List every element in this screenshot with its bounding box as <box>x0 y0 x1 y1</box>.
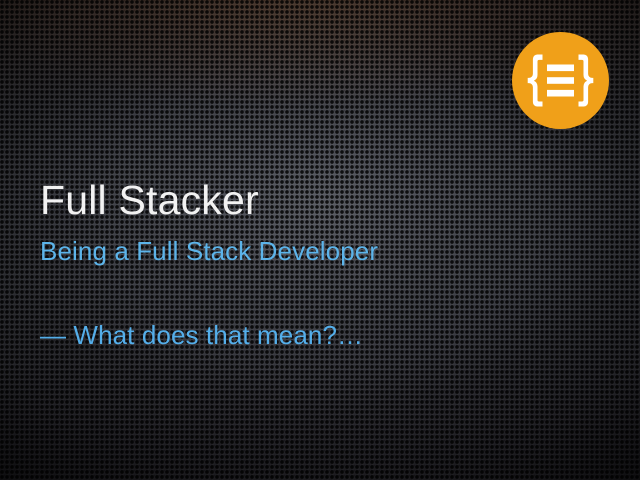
slide-text-block: Full Stacker Being a Full Stack Develope… <box>40 178 600 351</box>
slide-note: — What does that mean?… <box>40 320 600 351</box>
curly-braces-lines-icon <box>512 32 609 129</box>
slide-canvas: Full Stacker Being a Full Stack Develope… <box>0 0 640 480</box>
brand-logo <box>512 32 609 129</box>
slide-subtitle: Being a Full Stack Developer <box>40 236 600 267</box>
slide-title: Full Stacker <box>40 178 600 224</box>
